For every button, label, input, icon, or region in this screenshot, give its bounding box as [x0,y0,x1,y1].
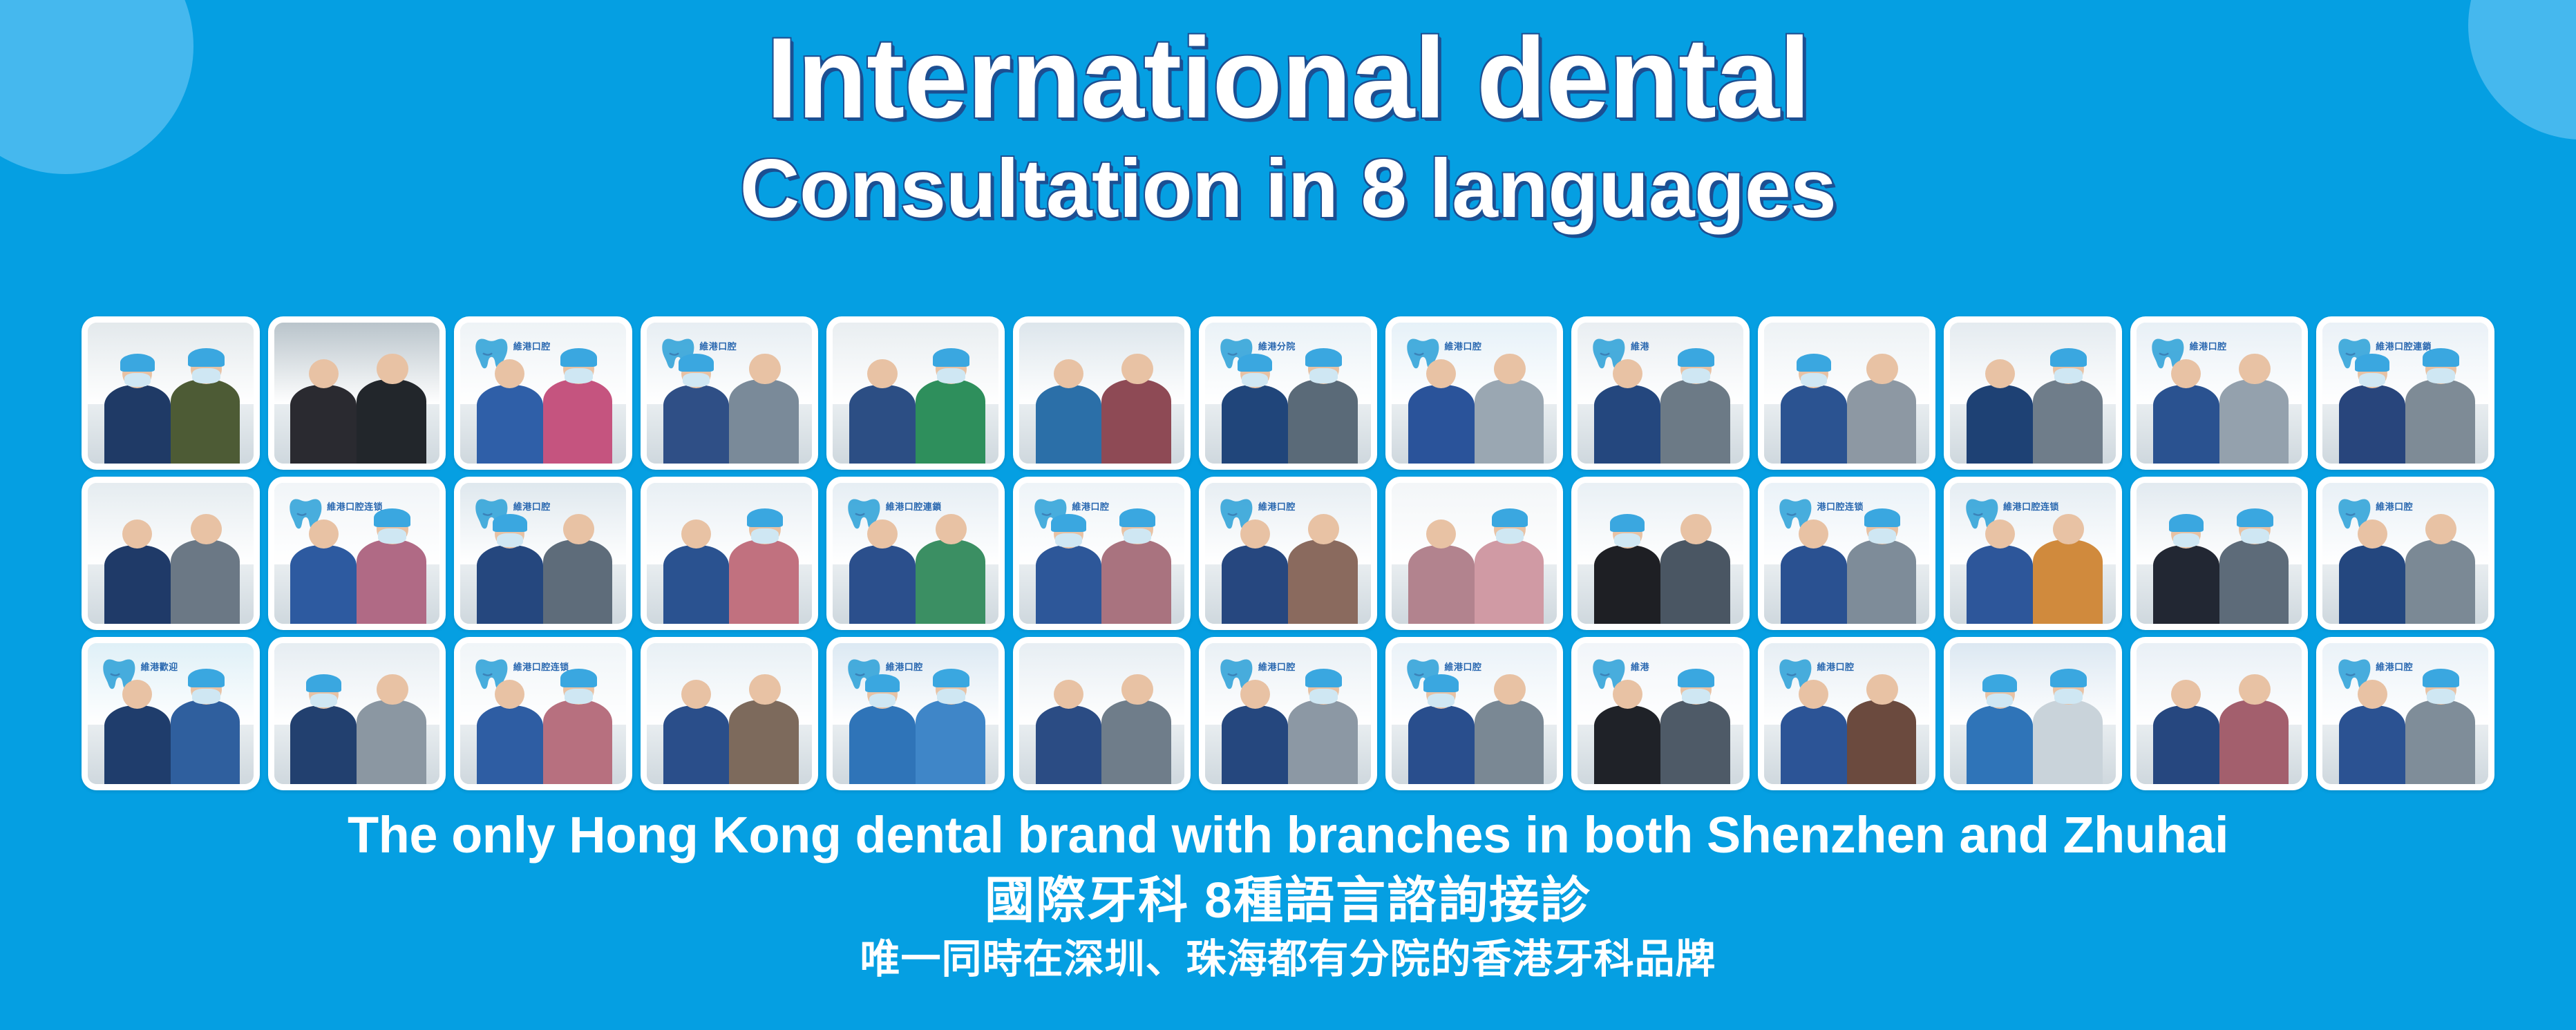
photo-person [1594,545,1660,624]
photo-person [1475,379,1544,464]
clinic-photo: 維港口腔 [460,483,626,624]
clinic-photo: 維港歡迎 [88,643,254,784]
photo-surgical-cap-icon [560,669,597,687]
photo-person-head [1240,680,1270,709]
photo-person-head [1054,359,1083,388]
photo-card: 維港口腔 [454,477,632,630]
photo-surgical-cap-icon [120,354,155,372]
photo-person [543,700,613,784]
caption-chinese-secondary: 唯一同時在深圳、珠海都有分院的香港牙科品牌 [0,937,2576,983]
photo-person [2153,545,2219,624]
photo-surgical-cap-icon [2050,669,2087,687]
photo-person [543,540,613,624]
photo-person [1408,545,1475,624]
photo-person [477,545,543,624]
photo-face-mask-icon [1614,533,1640,547]
photo-face-mask-icon [2173,533,2199,547]
photo-person-head [867,359,897,388]
photo-card: 維港口腔 [1013,477,1191,630]
clinic-brand-text: 維港 [1631,339,1649,352]
clinic-brand-text: 維港口腔 [2190,339,2227,352]
photo-person [2405,700,2475,784]
photo-person-head [2358,680,2387,709]
caption-chinese-primary: 國際牙科 8種語言諮詢接診 [0,872,2576,930]
photo-surgical-cap-icon [2423,669,2459,687]
photo-card [1385,477,1564,630]
photo-person [1222,705,1288,784]
photo-face-mask-icon [683,373,709,387]
clinic-photo: 維港口腔連鎖 [833,483,998,624]
photo-person [1101,540,1171,624]
photo-face-mask-icon [124,373,151,387]
photo-face-mask-icon [2427,368,2455,383]
clinic-brand-text: 維港口腔连锁 [327,499,383,513]
photo-card: 維港口腔 [2316,637,2494,790]
photo-person-head [1121,674,1153,705]
photo-surgical-cap-icon [374,508,410,527]
photo-person [290,385,357,464]
photo-face-mask-icon [869,694,896,707]
photo-card [1758,316,1936,470]
photo-person-head [2239,354,2271,385]
photo-person-head [1866,674,1898,705]
clinic-photo: 維港口腔 [2322,483,2488,624]
clinic-photo [2137,643,2302,784]
photo-person-head [1985,359,2015,388]
photo-card [1571,477,1750,630]
photo-person [1660,379,1730,464]
photo-surgical-cap-icon [2423,348,2459,367]
photo-face-mask-icon [2359,373,2385,387]
photo-face-mask-icon [1428,694,1454,707]
photo-person [1660,540,1730,624]
photo-person [2339,705,2405,784]
photo-face-mask-icon [565,689,593,703]
clinic-photo [88,323,254,464]
photo-person [1222,545,1288,624]
photo-person-head [1613,680,1642,709]
photo-card [268,637,446,790]
photo-person-head [749,674,781,705]
photo-card [82,316,260,470]
photo-card: 維港口腔 [1199,477,1377,630]
photo-person [171,700,240,784]
photo-surgical-cap-icon [2355,354,2389,372]
photo-person [2405,540,2475,624]
photo-face-mask-icon [1987,694,2013,707]
photo-person [290,545,357,624]
photo-person [171,540,240,624]
photo-card: 維港口腔連鎖 [826,477,1005,630]
clinic-brand-text: 維港口腔 [1444,339,1481,352]
photo-surgical-cap-icon [679,354,713,372]
photo-face-mask-icon [2427,689,2455,703]
photo-surgical-cap-icon [1492,508,1528,527]
clinic-brand-text: 維港口腔 [1444,660,1481,673]
clinic-brand-text: 維港 [1631,660,1649,673]
photo-person [849,385,916,464]
photo-face-mask-icon [2241,528,2269,543]
photo-card: 維港口腔 [454,316,632,470]
photo-surgical-cap-icon [1864,508,1901,527]
photo-person-head [1613,359,1642,388]
clinic-brand-text: 維港口腔 [886,660,923,673]
photo-card: 維港口腔連鎖 [2316,316,2494,470]
photo-surgical-cap-icon [1982,674,2017,692]
photo-person [104,705,171,784]
photo-surgical-cap-icon [747,508,784,527]
photo-person [1288,540,1358,624]
photo-person [543,379,613,464]
photo-person [1288,700,1358,784]
photo-card: 維港口腔 [1385,637,1564,790]
photo-person [1036,545,1102,624]
photo-person-head [309,519,339,549]
clinic-brand-text: 維港口腔 [2376,499,2413,513]
photo-face-mask-icon [192,368,220,383]
clinic-photo [274,323,440,464]
caption-english: The only Hong Kong dental brand with bra… [0,807,2576,864]
photo-card: 維港口腔 [1758,637,1936,790]
photo-person [1594,385,1660,464]
photo-collage-grid: 維港口腔維港口腔維港分院維港口腔維港維港口腔維港口腔連鎖維港口腔连锁維港口腔維港… [82,316,2494,790]
clinic-brand-text: 維港口腔连锁 [513,660,569,673]
photo-surgical-cap-icon [1678,348,1714,367]
clinic-photo [647,483,813,624]
photo-person [916,540,985,624]
photo-person [2033,540,2103,624]
clinic-photo [2137,483,2302,624]
photo-card: 維港口腔 [1385,316,1564,470]
photo-surgical-cap-icon [2050,348,2087,367]
photo-surgical-cap-icon [933,669,969,687]
photo-person [1781,545,1847,624]
photo-person [104,385,171,464]
clinic-brand-text: 維港口腔 [1072,499,1109,513]
photo-person [1036,705,1102,784]
photo-surgical-cap-icon [2237,508,2273,527]
photo-surgical-cap-icon [1678,669,1714,687]
photo-person [1408,705,1475,784]
clinic-photo [1764,323,1930,464]
photo-surgical-cap-icon [1238,354,1272,372]
photo-card [2130,637,2309,790]
photo-surgical-cap-icon [306,674,341,692]
photo-card [826,316,1005,470]
photo-person-head [1494,354,1526,385]
photo-face-mask-icon [1801,373,1827,387]
photo-face-mask-icon [565,368,593,383]
clinic-brand-text: 維港歡迎 [141,660,178,673]
banner-subtitle: Consultation in 8 languages [0,143,2576,234]
photo-person [1222,385,1288,464]
clinic-photo: 維港口腔連鎖 [2322,323,2488,464]
photo-face-mask-icon [497,533,523,547]
clinic-brand-text: 維港分院 [1258,339,1296,352]
photo-person [1660,700,1730,784]
photo-card [82,477,260,630]
photo-person [2033,700,2103,784]
clinic-photo: 維港 [1578,643,1743,784]
clinic-photo: 維港口腔连锁 [1950,483,2116,624]
photo-surgical-cap-icon [188,348,225,367]
photo-person [1967,705,2033,784]
photo-person [1408,385,1475,464]
clinic-photo: 維港口腔 [1764,643,1930,784]
photo-person [1036,385,1102,464]
clinic-photo [1019,643,1185,784]
photo-face-mask-icon [310,694,337,707]
photo-person [2219,700,2289,784]
photo-person [1847,379,1917,464]
photo-person-head [681,680,711,709]
photo-surgical-cap-icon [188,669,225,687]
photo-surgical-cap-icon [1797,354,1831,372]
photo-person [916,379,985,464]
clinic-brand-text: 維港口腔 [2376,660,2413,673]
photo-face-mask-icon [1682,689,1710,703]
banner-title: International dental [0,17,2576,140]
clinic-photo [274,643,440,784]
photo-face-mask-icon [1055,533,1081,547]
clinic-photo [1950,643,2116,784]
photo-face-mask-icon [937,368,965,383]
photo-surgical-cap-icon [560,348,597,367]
photo-person [663,385,730,464]
photo-person [849,545,916,624]
clinic-photo [647,643,813,784]
photo-person [849,705,916,784]
photo-surgical-cap-icon [1423,674,1458,692]
photo-person [1475,700,1544,784]
photo-person [1101,379,1171,464]
photo-person-head [377,674,408,705]
clinic-photo: 維港口腔连锁 [460,643,626,784]
clinic-photo: 維港口腔 [1392,323,1557,464]
photo-card: 維港口腔 [641,316,819,470]
photo-person [357,540,426,624]
photo-person-head [1054,680,1083,709]
clinic-brand-text: 維港口腔 [699,339,737,352]
photo-surgical-cap-icon [865,674,900,692]
photo-face-mask-icon [378,528,406,543]
photo-person [1967,545,2033,624]
photo-surgical-cap-icon [2169,514,2204,532]
photo-card: 維港口腔 [826,637,1005,790]
photo-card: 維港 [1571,637,1750,790]
clinic-photo: 維港分院 [1205,323,1371,464]
photo-person [357,700,426,784]
photo-person [171,379,240,464]
photo-surgical-cap-icon [1610,514,1645,532]
photo-face-mask-icon [1242,373,1268,387]
photo-card: 維港口腔 [2130,316,2309,470]
photo-person [2033,379,2103,464]
photo-surgical-cap-icon [1305,348,1342,367]
photo-card: 維港分院 [1199,316,1377,470]
clinic-brand-text: 維港口腔連鎖 [2376,339,2432,352]
clinic-photo [1578,483,1743,624]
photo-person [729,379,799,464]
clinic-brand-text: 維港口腔 [1258,660,1296,673]
photo-person [916,700,985,784]
photo-card [641,477,819,630]
photo-person [1781,705,1847,784]
clinic-photo: 維港口腔连锁 [274,483,440,624]
photo-face-mask-icon [1309,368,1338,383]
headline-block: International dental Consultation in 8 l… [0,17,2576,234]
photo-face-mask-icon [192,689,220,703]
photo-card [1944,637,2122,790]
photo-surgical-cap-icon [1119,508,1156,527]
photo-person [2339,385,2405,464]
clinic-photo [1950,323,2116,464]
clinic-photo: 維港口腔 [1019,483,1185,624]
clinic-photo: 維港口腔 [647,323,813,464]
clinic-brand-text: 維港口腔 [513,339,551,352]
clinic-photo [1392,483,1557,624]
clinic-brand-text: 港口腔连锁 [1817,499,1864,513]
photo-person-head [2239,674,2271,705]
photo-person-head [1985,519,2015,549]
photo-face-mask-icon [1496,528,1524,543]
photo-person [1847,540,1917,624]
clinic-photo: 維港口腔 [1205,643,1371,784]
caption-block: The only Hong Kong dental brand with bra… [0,807,2576,982]
clinic-photo: 維港口腔 [1392,643,1557,784]
photo-card: 維港口腔连锁 [454,637,632,790]
photo-card: 維港口腔连锁 [268,477,446,630]
photo-card [1013,637,1191,790]
photo-person [2153,385,2219,464]
clinic-brand-text: 維港口腔 [1258,499,1296,513]
photo-person-head [309,359,339,388]
clinic-photo [88,483,254,624]
photo-surgical-cap-icon [1051,514,1086,532]
photo-card [268,316,446,470]
photo-person [104,545,171,624]
photo-person-head [191,514,222,545]
photo-person-head [1240,519,1270,549]
clinic-photo [833,323,998,464]
photo-person-head [377,354,408,385]
photo-card: 維港口腔连锁 [1944,477,2122,630]
photo-person-head [1121,354,1153,385]
clinic-photo: 維港口腔 [2322,643,2488,784]
photo-person [663,705,730,784]
photo-surgical-cap-icon [933,348,969,367]
photo-person [2219,540,2289,624]
clinic-brand-text: 維港口腔 [513,499,551,513]
photo-person [1847,700,1917,784]
photo-card: 維港歡迎 [82,637,260,790]
clinic-photo [1019,323,1185,464]
photo-card [641,637,819,790]
photo-person [477,705,543,784]
photo-person-head [1866,354,1898,385]
photo-face-mask-icon [1309,689,1338,703]
photo-card [2130,477,2309,630]
photo-person [729,540,799,624]
photo-person [2405,379,2475,464]
clinic-photo: 維港口腔 [833,643,998,784]
photo-person [1594,705,1660,784]
photo-surgical-cap-icon [493,514,527,532]
photo-face-mask-icon [2054,368,2083,383]
photo-person [477,385,543,464]
clinic-brand-text: 維港口腔连锁 [2003,499,2059,513]
photo-face-mask-icon [937,689,965,703]
photo-card: 港口腔连锁 [1758,477,1936,630]
photo-person [1781,385,1847,464]
photo-person [2153,705,2219,784]
photo-surgical-cap-icon [1305,669,1342,687]
photo-person [663,545,730,624]
photo-card: 維港 [1571,316,1750,470]
photo-person [729,700,799,784]
clinic-photo: 維港口腔 [2137,323,2302,464]
clinic-photo: 維港 [1578,323,1743,464]
photo-person-head [749,354,781,385]
photo-card [1944,316,2122,470]
photo-person-head [1494,674,1526,705]
photo-person-head [867,519,897,549]
photo-face-mask-icon [1124,528,1152,543]
photo-card: 維港口腔 [2316,477,2494,630]
photo-person [357,379,426,464]
photo-person [1967,385,2033,464]
photo-person [2219,379,2289,464]
clinic-brand-text: 維港口腔 [1817,660,1854,673]
photo-face-mask-icon [1868,528,1897,543]
photo-face-mask-icon [2054,689,2083,703]
photo-person-head [681,519,711,549]
clinic-brand-text: 維港口腔連鎖 [886,499,942,513]
photo-person [1288,379,1358,464]
photo-person [1101,700,1171,784]
photo-card [1013,316,1191,470]
photo-person [2339,545,2405,624]
clinic-photo: 港口腔连锁 [1764,483,1930,624]
clinic-photo: 維港口腔 [1205,483,1371,624]
promotional-banner: International dental Consultation in 8 l… [0,0,2576,1030]
photo-person [290,705,357,784]
photo-person-head [2358,519,2387,549]
photo-card: 維港口腔 [1199,637,1377,790]
clinic-photo: 維港口腔 [460,323,626,464]
photo-person [1475,540,1544,624]
photo-face-mask-icon [751,528,779,543]
photo-face-mask-icon [1682,368,1710,383]
